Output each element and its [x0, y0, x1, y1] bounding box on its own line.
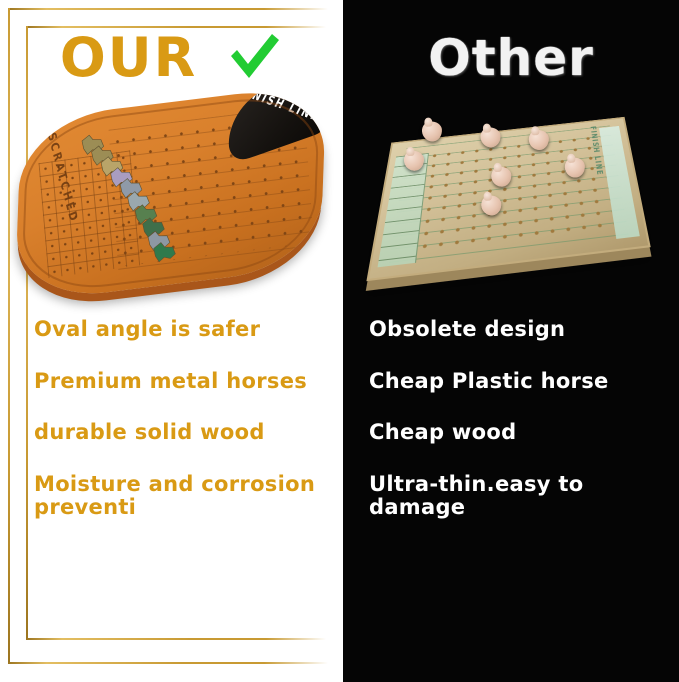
- our-lane-lines: [109, 106, 315, 275]
- horse-piece: [491, 166, 512, 187]
- other-title: Other: [428, 33, 594, 83]
- list-item: Moisture and corrosion preventi: [34, 473, 334, 520]
- green-check-icon: [223, 28, 283, 88]
- horse-piece: [481, 195, 502, 216]
- other-heading-row: Other: [343, 22, 679, 94]
- our-product-panel: OUR SCRATCHED: [0, 0, 343, 682]
- our-scratch-squares: [38, 150, 140, 278]
- our-metal-horses: [71, 117, 196, 283]
- horse-piece: [480, 127, 501, 148]
- list-item: Ultra-thin.easy to damage: [369, 473, 669, 520]
- horse-piece: [403, 150, 424, 171]
- list-item: Obsolete design: [369, 318, 669, 342]
- our-feature-list: Oval angle is safer Premium metal horses…: [0, 318, 343, 548]
- list-item: Cheap Plastic horse: [369, 370, 669, 394]
- frame-inner-bottom: [26, 638, 326, 640]
- horse-piece: [564, 157, 585, 178]
- list-item: Premium metal horses: [34, 370, 334, 394]
- product-comparison-graphic: OUR SCRATCHED: [0, 0, 679, 682]
- our-scratched-label: SCRATCHED: [45, 131, 81, 226]
- horse-piece: [528, 129, 549, 150]
- frame-outer-bottom: [8, 662, 328, 664]
- our-product-image: SCRATCHED: [0, 88, 343, 310]
- other-board: FINISH LINE: [374, 91, 649, 309]
- horse-piece: [421, 121, 442, 142]
- other-product-panel: Other FINISH LINE: [343, 0, 679, 682]
- other-plastic-horses: [374, 92, 639, 273]
- our-title: OUR: [60, 31, 197, 85]
- other-product-image: FINISH LINE: [343, 96, 679, 310]
- frame-outer-top: [8, 8, 328, 10]
- list-item: Cheap wood: [369, 421, 669, 445]
- list-item: durable solid wood: [34, 421, 334, 445]
- list-item: Oval angle is safer: [34, 318, 334, 342]
- our-finish-line-label: FINISH LINE: [237, 84, 326, 125]
- our-peg-holes: [109, 113, 306, 267]
- our-board: SCRATCHED: [10, 81, 339, 315]
- other-feature-list: Obsolete design Cheap Plastic horse Chea…: [343, 318, 679, 548]
- our-finish-line-band: FINISH LINE: [228, 83, 326, 165]
